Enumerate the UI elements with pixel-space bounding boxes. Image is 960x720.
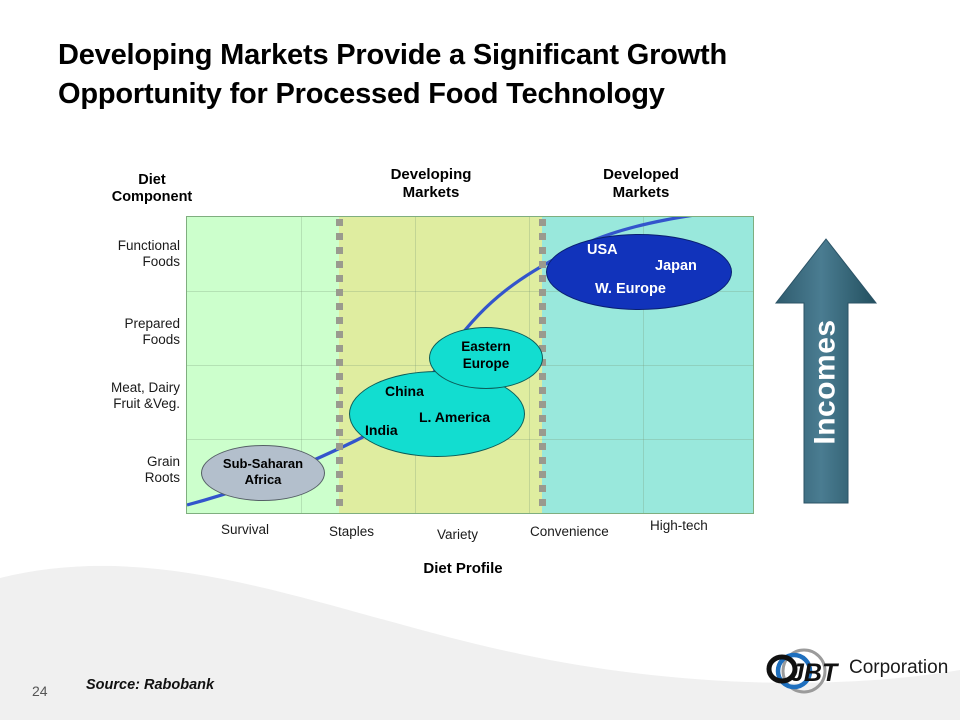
y-tick-prepared-foods: Prepared Foods <box>60 316 180 348</box>
x-tick-convenience: Convenience <box>530 524 609 539</box>
bubble-label-line-1: Sub-Saharan <box>202 457 324 471</box>
source-note: Source: Rabobank <box>86 677 214 693</box>
title-line-1: Developing Markets Provide a Significant… <box>58 36 918 75</box>
bubble-eastern-europe[interactable]: Eastern Europe <box>429 327 543 389</box>
bubble-developed-markets[interactable] <box>546 234 732 310</box>
group-header-developed-markets: Developed Markets <box>565 166 717 202</box>
svg-text:JBT: JBT <box>790 659 840 687</box>
bubble-label-china: China <box>385 383 424 399</box>
y-tick-grain-roots: Grain Roots <box>60 454 180 486</box>
x-axis-title: Diet Profile <box>368 560 558 577</box>
divider-developing-start <box>336 219 343 511</box>
y-axis-title: Diet Component <box>104 172 200 207</box>
chart-plot-area: Sub-Saharan Africa Eastern Europe China … <box>186 216 754 514</box>
bubble-label-line-2: Africa <box>202 473 324 487</box>
bubble-label-japan: Japan <box>655 258 697 274</box>
group-header-line-1: Developing <box>356 166 506 184</box>
bubble-sub-saharan-africa[interactable]: Sub-Saharan Africa <box>201 445 325 501</box>
y-axis-title-line-2: Component <box>104 189 200 206</box>
incomes-arrow <box>774 237 878 505</box>
title-line-2: Opportunity for Processed Food Technolog… <box>58 75 918 114</box>
y-tick-line-1: Functional <box>60 238 180 254</box>
y-tick-line-1: Grain <box>60 454 180 470</box>
y-tick-line-1: Meat, Dairy <box>60 380 180 396</box>
y-tick-line-2: Fruit &Veg. <box>60 396 180 412</box>
y-tick-line-1: Prepared <box>60 316 180 332</box>
page-number: 24 <box>32 683 48 699</box>
bubble-label-latin-america: L. America <box>419 409 490 425</box>
y-tick-meat-dairy: Meat, Dairy Fruit &Veg. <box>60 380 180 412</box>
jbt-logo-wordmark: Corporation <box>849 657 948 679</box>
x-tick-survival: Survival <box>221 522 269 537</box>
group-header-line-2: Markets <box>356 184 506 202</box>
bubble-label-w-europe: W. Europe <box>595 281 666 297</box>
x-tick-high-tech: High-tech <box>650 518 708 533</box>
page-title: Developing Markets Provide a Significant… <box>58 36 918 113</box>
group-header-line-2: Markets <box>565 184 717 202</box>
y-axis-ticks: Functional Foods Prepared Foods Meat, Da… <box>58 216 180 514</box>
group-header-line-1: Developed <box>565 166 717 184</box>
x-tick-variety: Variety <box>437 527 478 542</box>
x-tick-staples: Staples <box>329 524 374 539</box>
y-tick-line-2: Foods <box>60 332 180 348</box>
y-axis-title-line-1: Diet <box>104 172 200 189</box>
bubble-label-usa: USA <box>587 242 618 258</box>
group-header-developing-markets: Developing Markets <box>356 166 506 202</box>
y-tick-functional-foods: Functional Foods <box>60 238 180 270</box>
slide: Developing Markets Provide a Significant… <box>0 0 960 720</box>
bubble-label-line-1: Eastern <box>430 340 542 355</box>
y-tick-line-2: Roots <box>60 470 180 486</box>
bubble-label-line-2: Europe <box>430 357 542 372</box>
bubble-label-india: India <box>365 422 398 438</box>
y-tick-line-2: Foods <box>60 254 180 270</box>
